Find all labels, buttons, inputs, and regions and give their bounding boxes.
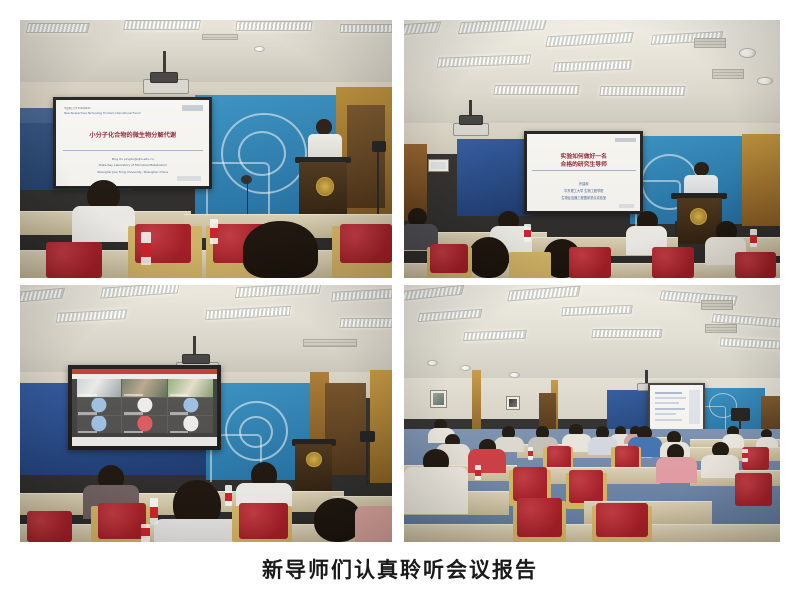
microphone-stand — [247, 180, 249, 216]
chair — [46, 242, 102, 278]
ceiling-lamp — [599, 86, 685, 96]
chair — [239, 503, 287, 539]
water-bottle — [475, 465, 481, 480]
avatar — [91, 416, 106, 431]
ceiling-vent — [303, 339, 357, 347]
projection-screen — [648, 383, 705, 433]
photo-bottom-left — [20, 285, 392, 542]
chair — [340, 224, 392, 263]
ceiling-downlight — [460, 365, 471, 371]
vc-tile-avatar[interactable] — [122, 398, 167, 415]
vc-name-label — [124, 412, 143, 414]
photo-top-right: 实验如何做好一名 合格的研究生导师 许建和 华东理工大学 生物工程学院 生物反应… — [404, 20, 780, 278]
document-page: 学会理工大学 2020/06/13 New Perspectives Techn… — [0, 0, 800, 600]
slide-corner-tag — [615, 138, 635, 143]
slide-diagram-block — [655, 397, 687, 399]
camera-tripod — [366, 439, 368, 485]
vc-tile-video[interactable] — [77, 379, 122, 396]
camera-tripod — [377, 149, 379, 216]
photo-top-left: 学会理工大学 2020/06/13 New Perspectives Techn… — [20, 20, 392, 278]
avatar — [137, 416, 152, 431]
photo-bottom-right — [404, 285, 780, 542]
water-bottle — [150, 498, 158, 524]
water-bottle — [225, 485, 232, 506]
chair — [513, 467, 547, 500]
slide-corner-tag — [182, 105, 203, 110]
projector — [453, 123, 489, 135]
vc-tile-video[interactable] — [122, 379, 167, 396]
water-bottle — [524, 224, 531, 242]
ceiling-vent — [701, 300, 733, 310]
slide-subtitle-3: 生物反应器工程国家重点实验室 — [541, 195, 627, 200]
slide-subtitle-2: State Key Laboratory of Microbial Metabo… — [75, 163, 191, 167]
slide-sidebar — [689, 390, 701, 423]
chair — [569, 470, 603, 503]
ceiling-vent — [694, 38, 726, 48]
slide-subtitle-2: 华东理工大学 生物工程学院 — [541, 188, 627, 193]
slide-divider — [532, 170, 636, 171]
chair — [430, 244, 468, 272]
water-bottle — [742, 449, 747, 462]
ceiling-lamp — [235, 21, 313, 31]
vc-participant-grid — [77, 379, 213, 433]
vc-tile-avatar[interactable] — [77, 416, 122, 433]
projection-screen: 实验如何做好一名 合格的研究生导师 许建和 华东理工大学 生物工程学院 生物反应… — [524, 131, 643, 214]
ceiling-lamp — [123, 20, 201, 30]
vc-tile-avatar[interactable] — [77, 398, 122, 415]
vc-name-label — [124, 394, 143, 396]
projection-screen — [68, 365, 221, 450]
vc-tile-avatar[interactable] — [168, 416, 213, 433]
ceiling-downlight — [739, 48, 756, 58]
avatar — [183, 398, 198, 413]
water-bottle — [750, 229, 757, 247]
photo-grid: 学会理工大学 2020/06/13 New Perspectives Techn… — [20, 20, 780, 540]
slide-logo — [177, 176, 201, 181]
chair — [517, 498, 562, 537]
slide-subtitle-3: Shanghai Jiao Tong University, Shanghai,… — [75, 170, 191, 174]
ceiling-lamp — [26, 23, 90, 33]
slide-diagram-block — [655, 392, 682, 394]
chair — [27, 511, 72, 542]
slide-logo — [619, 204, 635, 208]
vc-tile-video[interactable] — [168, 379, 213, 396]
ceiling-vent — [705, 324, 737, 334]
attendee-body — [72, 206, 135, 242]
speaker-head — [316, 119, 332, 134]
speaker-head — [694, 162, 709, 176]
attendee-body — [701, 455, 739, 478]
attendee-head-foreground — [468, 237, 509, 278]
ceiling-lamp — [591, 329, 662, 338]
slide-header-en: New Perspectives Technology Frontiers In… — [64, 112, 141, 115]
chair — [98, 503, 146, 539]
water-bottle — [528, 447, 533, 460]
vc-name-label — [170, 431, 189, 433]
attendee-body — [355, 506, 392, 542]
slide-header-cn: 学会理工大学 2020/06/13 — [64, 106, 90, 110]
attendee-body — [656, 457, 697, 483]
video-conference-app — [72, 369, 217, 446]
water-bottle — [210, 219, 219, 245]
chair — [569, 247, 610, 278]
ceiling-vent — [202, 34, 237, 40]
framed-picture — [430, 390, 447, 407]
ceiling-vent — [712, 69, 744, 79]
water-bottle — [141, 232, 151, 266]
chair — [547, 446, 571, 469]
ceiling-lamp — [561, 304, 632, 316]
projection-screen: 学会理工大学 2020/06/13 New Perspectives Techn… — [53, 97, 212, 188]
water-bottle — [141, 524, 150, 542]
vc-name-label — [170, 412, 189, 414]
chair — [596, 503, 649, 536]
navy-wall — [457, 139, 532, 216]
slide-subtitle-1: Ping Xu pingxu@sjtu.edu.cn — [75, 157, 191, 161]
slide-divider — [63, 150, 203, 151]
vc-toolbar — [72, 374, 217, 379]
attendee-body — [154, 519, 243, 542]
camera — [360, 431, 375, 441]
vc-name-label — [170, 394, 189, 396]
vc-name-label — [124, 431, 143, 433]
figure-caption: 新导师们认真聆听会议报告 — [0, 554, 800, 584]
vc-tile-avatar[interactable] — [168, 398, 213, 415]
ceiling-lamp — [340, 24, 392, 33]
attendee-body — [404, 467, 468, 513]
ceiling-lamp — [494, 85, 580, 95]
vc-toolbar-bottom[interactable] — [72, 437, 217, 446]
slide-subtitle-1: 许建和 — [541, 181, 627, 186]
vc-name-label — [78, 394, 97, 396]
attendee-head-foreground — [243, 221, 317, 278]
vc-tile-avatar[interactable] — [122, 416, 167, 433]
podium-emblem — [306, 452, 321, 467]
chair — [652, 247, 693, 278]
camera — [372, 141, 387, 151]
framed-picture — [506, 396, 520, 411]
slide-diagram-block — [655, 413, 676, 415]
avatar — [183, 416, 198, 431]
wall-sign — [428, 159, 449, 171]
avatar — [91, 398, 106, 413]
slide-diagram-block — [655, 408, 686, 410]
chair — [735, 252, 776, 278]
chair — [735, 473, 773, 506]
chair — [615, 446, 639, 469]
slide-title-line-2: 合格的研究生导师 — [539, 159, 629, 168]
slide-title: 小分子化合物的微生物分解代谢 — [72, 130, 194, 139]
vc-name-label — [78, 412, 97, 414]
slide-diagram-block — [655, 419, 682, 421]
avatar — [137, 398, 152, 413]
attendee-body — [468, 449, 506, 472]
gear-graphic-icon — [206, 162, 270, 221]
vc-name-label — [78, 431, 97, 433]
slide-diagram-block — [655, 402, 679, 404]
podium-emblem — [690, 208, 707, 224]
ceiling-lamp — [339, 318, 392, 328]
